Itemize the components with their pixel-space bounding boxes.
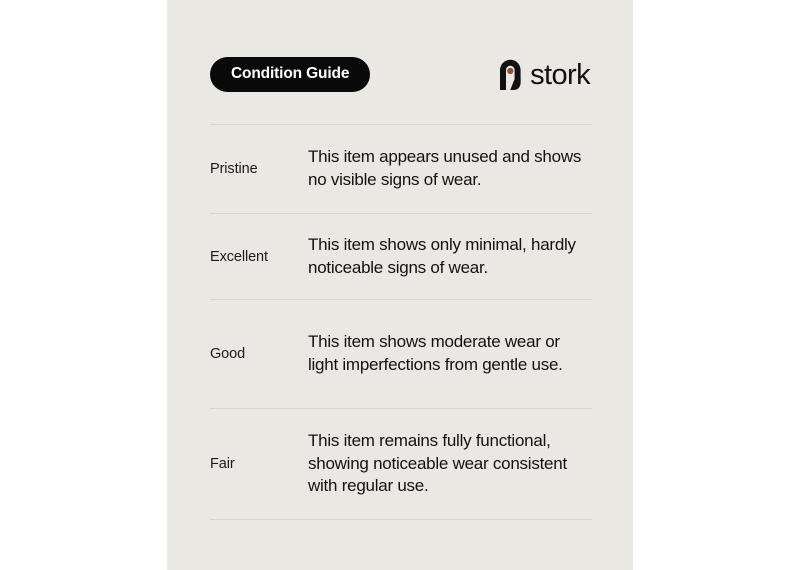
table-row: Pristine This item appears unused and sh…: [210, 125, 592, 213]
condition-description: This item appears unused and shows no vi…: [308, 146, 592, 192]
condition-label: Excellent: [210, 249, 308, 265]
condition-label: Fair: [210, 456, 308, 472]
condition-label: Good: [210, 346, 308, 362]
table-row: Fair This item remains fully functional,…: [210, 409, 592, 519]
condition-label: Pristine: [210, 161, 308, 177]
condition-description: This item shows moderate wear or light i…: [308, 331, 592, 377]
table-divider-bottom: [210, 519, 592, 520]
brand-wordmark: stork: [530, 61, 590, 90]
condition-table: Pristine This item appears unused and sh…: [210, 124, 592, 520]
brand-lockup: stork: [497, 58, 590, 91]
page-root: Condition Guide stork Pristine This: [0, 0, 800, 570]
table-row: Good This item shows moderate wear or li…: [210, 300, 592, 408]
condition-description: This item shows only minimal, hardly not…: [308, 234, 592, 280]
condition-guide-card: Condition Guide stork Pristine This: [167, 0, 633, 570]
condition-guide-badge: Condition Guide: [210, 57, 370, 92]
condition-description: This item remains fully functional, show…: [308, 430, 592, 499]
card-header: Condition Guide stork: [210, 56, 592, 92]
stork-arch-logo-icon: [497, 58, 523, 91]
table-row: Excellent This item shows only minimal, …: [210, 214, 592, 299]
